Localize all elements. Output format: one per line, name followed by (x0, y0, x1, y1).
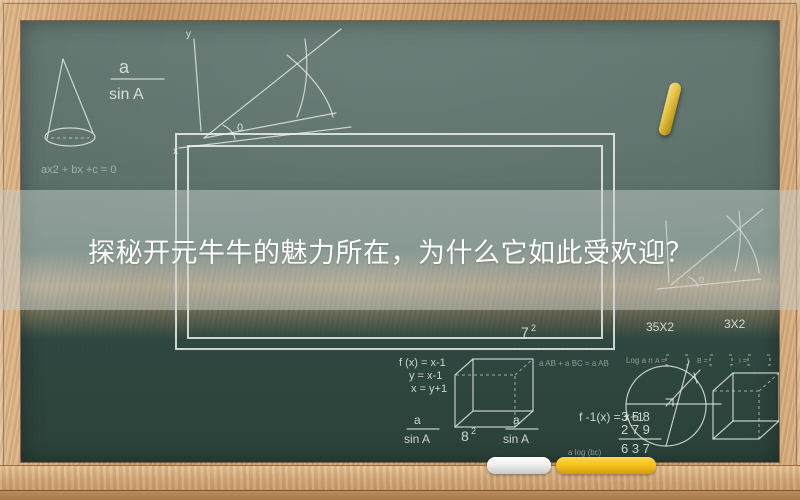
chalk-matrix-b: B = (697, 358, 708, 365)
chalk-formula-ab-bc: a AB + a BC = a AB (539, 359, 609, 368)
chalkboard-surface: a sin A ax2 + bx +c = 0 y x 0 0 f (x) = … (21, 21, 779, 462)
chalk-sum-row-3: 6 3 7 (621, 441, 650, 456)
chalk-label-theta-right: 0 (699, 275, 704, 285)
chalk-formula-fx-3: x = y+1 (411, 383, 447, 395)
chalk-formula-a2: a (414, 413, 421, 427)
chalk-formula-log-an: Log a n (626, 356, 653, 365)
white-chalk-icon (487, 457, 551, 474)
chalk-sum-row-2: 2 7 9 (621, 422, 650, 437)
cube-diagram-left (455, 359, 533, 427)
chalk-formula-eight: 8 (461, 428, 469, 444)
chalk-formula-quadratic: ax2 + bx +c = 0 (41, 164, 117, 176)
chalk-formula-sina2: sin A (404, 432, 430, 446)
chalk-label-matrix-3x2: 3X2 (724, 317, 746, 331)
chalk-formula-eight-exponent: 2 (471, 426, 476, 436)
decorative-rectangle-inner (187, 145, 603, 339)
cone-diagram (45, 59, 95, 146)
chalk-matrix-i: I = (739, 358, 747, 365)
chalk-formula-sina3: sin A (503, 432, 529, 446)
chalk-label-axis-y: y (186, 29, 191, 40)
chalk-formula-sina: sin A (109, 86, 144, 103)
chalk-formula-a: a (119, 57, 130, 77)
chalk-formula-log-bc: a log (bc) (568, 448, 602, 457)
angle-arc-diagram (657, 209, 763, 289)
chalk-formula-fx-2: y = x-1 (409, 370, 442, 382)
yellow-chalk-icon (556, 457, 656, 474)
chalk-label-matrix-35x2: 35X2 (646, 320, 674, 334)
chalk-ledge (0, 465, 800, 500)
blackboard-banner: a sin A ax2 + bx +c = 0 y x 0 0 f (x) = … (0, 0, 800, 500)
chalk-formula-a3: a (513, 413, 520, 427)
matrix-notation-row: A = B = I = (655, 355, 770, 365)
chalk-formula-fx-1: f (x) = x-1 (399, 357, 446, 369)
angle-axes-diagram (179, 29, 351, 148)
ledge-lip (0, 490, 800, 500)
cube-diagram-right (713, 373, 779, 439)
chalk-matrix-a: A = (655, 358, 665, 365)
